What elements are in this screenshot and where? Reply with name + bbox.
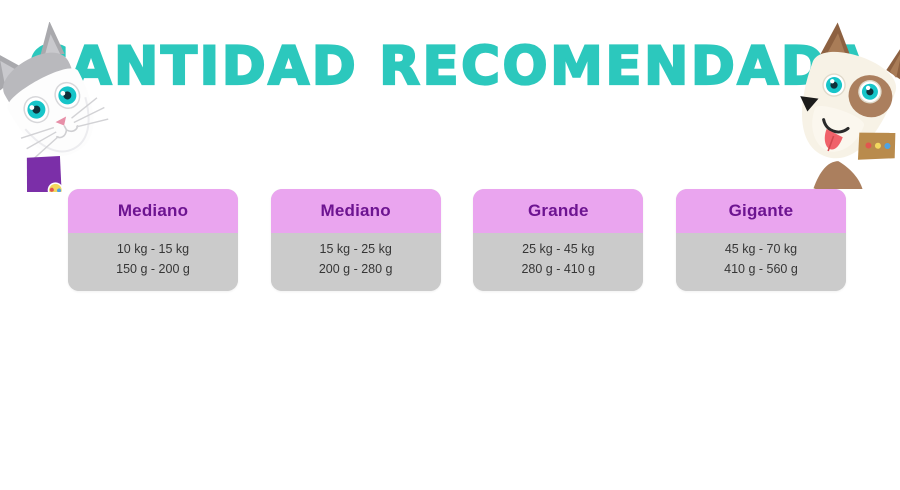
portion-card[interactable]: Gigante 45 kg - 70 kg 410 g - 560 g [676, 189, 846, 291]
card-body: 25 kg - 45 kg 280 g - 410 g [473, 233, 643, 291]
card-weight-range: 45 kg - 70 kg [725, 241, 797, 258]
card-weight-range: 10 kg - 15 kg [117, 241, 189, 258]
card-size-label: Mediano [271, 189, 441, 233]
card-body: 15 kg - 25 kg 200 g - 280 g [271, 233, 441, 291]
card-body: 10 kg - 15 kg 150 g - 200 g [68, 233, 238, 291]
portion-cards: Mediano 10 kg - 15 kg 150 g - 200 g Medi… [68, 189, 846, 291]
card-size-label: Mediano [68, 189, 238, 233]
card-size-label: Gigante [676, 189, 846, 233]
card-portion-range: 280 g - 410 g [521, 261, 595, 278]
card-body: 45 kg - 70 kg 410 g - 560 g [676, 233, 846, 291]
card-size-label: Grande [473, 189, 643, 233]
card-weight-range: 25 kg - 45 kg [522, 241, 594, 258]
portion-card[interactable]: Mediano 15 kg - 25 kg 200 g - 280 g [271, 189, 441, 291]
portion-card[interactable]: Mediano 10 kg - 15 kg 150 g - 200 g [68, 189, 238, 291]
card-portion-range: 200 g - 280 g [319, 261, 393, 278]
card-portion-range: 410 g - 560 g [724, 261, 798, 278]
portion-card[interactable]: Grande 25 kg - 45 kg 280 g - 410 g [473, 189, 643, 291]
poster-canvas: CANTIDAD RECOMENDADA [0, 0, 900, 490]
card-weight-range: 15 kg - 25 kg [320, 241, 392, 258]
page-title: CANTIDAD RECOMENDADA [0, 31, 900, 101]
card-portion-range: 150 g - 200 g [116, 261, 190, 278]
